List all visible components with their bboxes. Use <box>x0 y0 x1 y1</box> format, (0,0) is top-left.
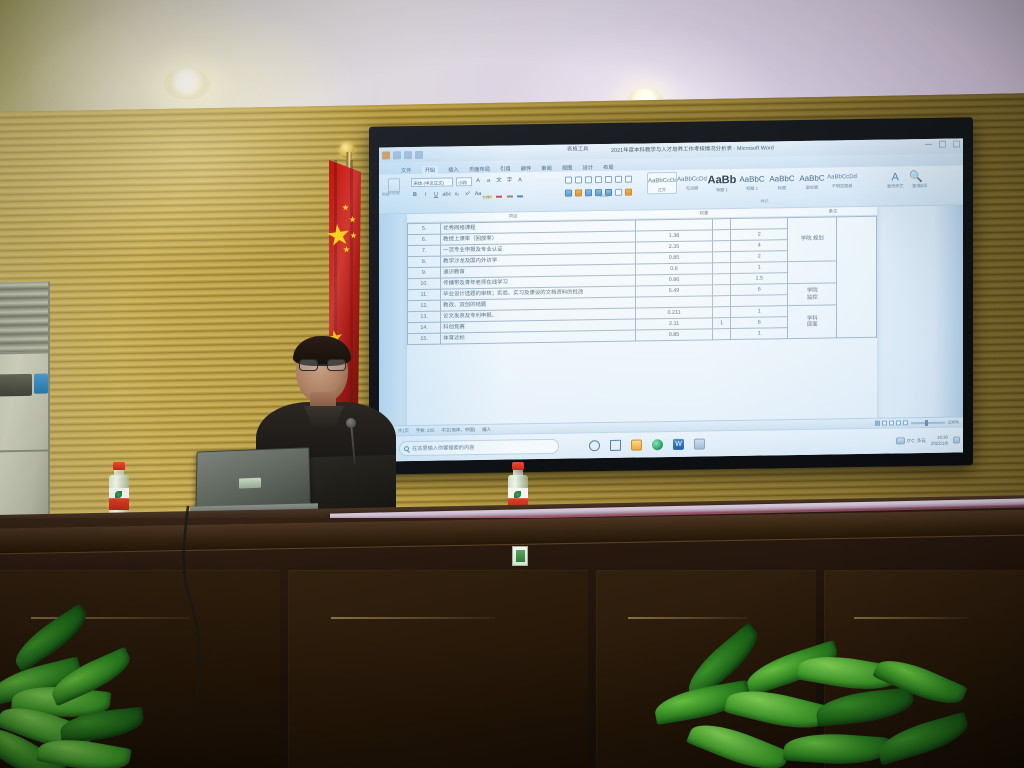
show-marks-icon[interactable] <box>625 176 632 183</box>
ribbon-group-clipboard[interactable]: 粘贴 剪贴板 <box>381 176 407 197</box>
style-preview: AaBbC <box>737 173 767 184</box>
row-extra <box>713 274 731 285</box>
document-page[interactable]: 项目 权重 备注 5. 优秀网络课程 学院 规划 <box>407 207 877 436</box>
style-no-spacing[interactable]: AaBbCcDd 无间隔 <box>677 171 707 191</box>
row-count <box>730 218 788 230</box>
row-count: 6 <box>730 284 788 296</box>
shrink-font-icon[interactable]: a <box>485 177 493 186</box>
office-button-icon[interactable] <box>382 151 390 159</box>
row-note: 学院 监控 <box>788 283 837 306</box>
row-item: 体育达标 <box>441 330 636 344</box>
view-mode-icons[interactable] <box>875 420 908 426</box>
contextual-tab-label: 表格工具 <box>567 145 589 152</box>
row-extra <box>713 252 731 263</box>
row-number: 11. <box>408 289 441 301</box>
taskbar-app-icons[interactable]: W <box>589 438 705 451</box>
zoom-level: 100% <box>948 419 959 424</box>
laptop-logo-icon <box>239 478 261 489</box>
style-preview: AaBb <box>707 174 737 186</box>
row-count: 1 <box>730 306 788 318</box>
glasses-icon <box>299 359 346 371</box>
row-count <box>730 295 788 307</box>
weather-temp: 0°C <box>907 438 915 443</box>
row-extra <box>713 241 731 252</box>
style-subtitle[interactable]: AaBbC 副标题 <box>797 170 827 191</box>
quick-access-toolbar[interactable] <box>379 150 423 159</box>
weather-widget[interactable]: 0°C 多云 <box>896 437 926 444</box>
decrease-indent-icon[interactable] <box>595 176 602 183</box>
style-name: 正文 <box>648 187 676 193</box>
style-name: 副标题 <box>797 185 827 191</box>
assessment-table[interactable]: 5. 优秀网络课程 学院 规划 6. 教授上课率（回放率） 1.38 <box>407 216 877 345</box>
style-preview: AaBbCcDd <box>827 172 857 182</box>
tab-home[interactable]: 开始 <box>422 166 439 174</box>
character-border-icon[interactable]: 字 <box>506 176 514 185</box>
status-words: 字数: 235 <box>416 427 435 433</box>
podium-panel <box>288 570 588 768</box>
bottle-leaf-icon <box>514 491 521 498</box>
row-number: 13. <box>408 311 441 323</box>
taskbar-search-input[interactable]: 在这里输入你要搜索的内容 <box>399 439 559 457</box>
draft-view-icon[interactable] <box>903 420 908 425</box>
style-heading-1[interactable]: AaBb 标题 1 <box>707 171 737 193</box>
task-view-icon[interactable] <box>610 440 621 451</box>
wall-mounted-display[interactable]: 表格工具 2021年度本科教学与人才培养工作考核情况分析表 - Microsof… <box>379 138 963 461</box>
tab-review[interactable]: 审阅 <box>541 164 552 172</box>
redo-icon[interactable] <box>415 150 423 158</box>
row-number: 12. <box>408 300 441 312</box>
action-center-icon[interactable] <box>953 436 960 443</box>
increase-indent-icon[interactable] <box>605 176 612 183</box>
plant-left <box>0 615 220 768</box>
font-name-input[interactable]: 宋体 (中文正文) <box>411 177 453 187</box>
web-layout-view-icon[interactable] <box>889 421 894 426</box>
row-extra: 1 <box>713 318 731 329</box>
style-name: 不明显强调 <box>827 183 857 189</box>
row-number: 14. <box>408 322 441 334</box>
font-size-input[interactable]: 小四 <box>456 177 472 186</box>
search-placeholder: 在这里输入你要搜索的内容 <box>412 444 474 452</box>
save-icon[interactable] <box>393 151 401 159</box>
plant-right <box>648 648 978 768</box>
status-insert-mode: 插入 <box>482 426 491 432</box>
style-name: 标题 1 <box>707 187 737 193</box>
style-name: 标题 <box>767 185 797 191</box>
panel-notch <box>628 617 748 619</box>
style-heading-2[interactable]: AaBbC 标题 2 <box>737 170 767 191</box>
zoom-slider[interactable] <box>911 421 945 424</box>
downlight-left <box>164 68 210 100</box>
style-preview: AaBbCcDd <box>677 174 707 184</box>
row-extra <box>713 230 731 241</box>
group-label-editing: 编辑 <box>887 182 959 189</box>
water-bottle-left <box>108 462 130 518</box>
weather-text: 多云 <box>917 437 926 443</box>
cortana-icon[interactable] <box>589 440 600 451</box>
clock-date: 2022/1/6 <box>931 440 948 446</box>
row-note: 学院 规划 <box>788 217 837 262</box>
tab-design[interactable]: 设计 <box>582 163 593 171</box>
zoom-slider-knob[interactable] <box>925 419 928 425</box>
glasses-right-lens <box>327 359 346 371</box>
word-icon[interactable]: W <box>673 439 684 450</box>
tab-insert[interactable]: 插入 <box>448 165 459 173</box>
style-subtle-emphasis[interactable]: AaBbCcDd 不明显强调 <box>827 169 857 189</box>
document-canvas[interactable]: 项目 权重 备注 5. 优秀网络课程 学院 规划 <box>379 205 963 440</box>
row-number: 7. <box>408 245 441 257</box>
grow-font-icon[interactable]: A <box>474 177 482 186</box>
undo-icon[interactable] <box>404 151 412 159</box>
sticker-graphic-icon <box>516 550 525 562</box>
row-count: 1.5 <box>730 273 788 285</box>
style-name: 无间隔 <box>677 185 707 191</box>
multilevel-list-icon[interactable] <box>585 176 592 183</box>
conference-room-photo: 表格工具 2021年度本科教学与人才培养工作考核情况分析表 - Microsof… <box>0 0 1024 768</box>
clear-formatting-icon[interactable]: A <box>516 176 524 185</box>
bottle-cap <box>113 462 125 470</box>
row-number: 10. <box>408 278 441 290</box>
row-extra <box>713 296 731 307</box>
sort-icon[interactable] <box>615 176 622 183</box>
row-count: 1 <box>730 262 788 274</box>
ribbon-group-styles[interactable]: AaBbCcDd 正文 AaBbCcDd 无间隔 AaBb 标题 1 AaB <box>647 169 882 207</box>
style-preview: AaBbC <box>767 173 797 184</box>
panel-notch <box>331 617 495 619</box>
panel-notch <box>854 617 969 619</box>
row-note: 学科 层面 <box>788 305 837 339</box>
ac-louvers <box>0 282 48 355</box>
tab-layout[interactable]: 布局 <box>603 163 614 171</box>
ac-display-panel <box>0 374 32 397</box>
row-value: 0.85 <box>635 329 712 341</box>
find-icon: 🔍 <box>909 171 923 183</box>
column-header-weight: 权重 <box>619 209 789 218</box>
search-icon <box>404 446 409 451</box>
glasses-left-lens <box>299 359 318 371</box>
group-label-clipboard: 剪贴板 <box>381 190 407 196</box>
ac-sticker <box>34 374 48 394</box>
bottle-neck <box>114 469 124 476</box>
restore-icon[interactable] <box>939 141 946 148</box>
style-title[interactable]: AaBbC 标题 <box>767 170 797 191</box>
word-window[interactable]: 表格工具 2021年度本科教学与人才培养工作考核情况分析表 - Microsof… <box>379 138 963 461</box>
air-conditioner <box>0 281 50 520</box>
status-language: 中文(简体，中国) <box>441 427 475 434</box>
row-extra <box>713 329 731 340</box>
close-icon[interactable] <box>953 140 960 147</box>
ribbon-group-font[interactable]: 宋体 (中文正文) 小四 A a 文 字 A B I U abc x₂ <box>411 174 561 202</box>
row-extra <box>713 285 731 296</box>
bottle-cap <box>512 462 524 470</box>
group-label-paragraph: 段落 <box>565 192 643 199</box>
row-count: 1 <box>730 328 788 340</box>
ac-seam <box>0 450 48 453</box>
file-explorer-icon[interactable] <box>631 439 642 450</box>
plant-leaf <box>783 730 889 767</box>
phonetic-guide-icon[interactable]: 文 <box>495 177 503 186</box>
status-zoom-controls[interactable]: 100% <box>875 419 959 425</box>
row-extra <box>713 307 731 318</box>
group-label-font: 字体 <box>411 194 561 202</box>
style-normal[interactable]: AaBbCcDd 正文 <box>647 172 677 194</box>
outline-view-icon[interactable] <box>896 420 901 425</box>
bullets-icon[interactable] <box>565 177 572 184</box>
document-title: 2021年度本科教学与人才培养工作考核情况分析表 - Microsoft Wor… <box>611 143 774 154</box>
ribbon-group-paragraph[interactable]: 段落 <box>565 172 643 199</box>
system-tray[interactable]: 0°C 多云 16:30 2022/1/6 <box>896 435 960 447</box>
column-header-note: 备注 <box>789 208 877 215</box>
row-extra <box>713 263 731 274</box>
row-count: 4 <box>730 240 788 252</box>
ribbon-group-editing[interactable]: A 更改样式 🔍 查找 编辑 <box>887 167 959 189</box>
numbering-icon[interactable] <box>575 176 582 183</box>
glasses-bridge <box>318 364 327 366</box>
minimize-icon[interactable] <box>925 141 932 145</box>
style-name: 标题 2 <box>737 185 767 191</box>
weather-icon <box>896 437 905 444</box>
print-layout-view-icon[interactable] <box>875 421 880 426</box>
window-controls[interactable] <box>925 140 960 148</box>
edge-icon[interactable] <box>652 439 663 450</box>
plant-leaf <box>815 687 916 727</box>
style-preview: AaBbCcDd <box>648 176 676 186</box>
row-note-blank <box>788 261 837 284</box>
desk-microphone <box>346 418 356 428</box>
row-number: 9. <box>408 267 441 279</box>
row-last-column <box>837 216 877 338</box>
bottle-leaf-icon <box>115 491 122 498</box>
style-preview: AaBbC <box>797 173 827 184</box>
row-number: 15. <box>408 333 441 345</box>
plant-leaf <box>874 712 972 766</box>
row-extra <box>713 219 731 230</box>
change-styles-icon: A <box>887 171 903 183</box>
bottle-neck <box>513 469 523 476</box>
tab-view[interactable]: 视图 <box>562 164 573 172</box>
row-number: 5. <box>408 223 441 235</box>
tab-file[interactable]: 文件 <box>401 166 412 174</box>
app-icon[interactable] <box>694 438 705 449</box>
podium-sticker <box>512 546 528 566</box>
row-number: 6. <box>408 234 441 246</box>
row-number: 8. <box>408 256 441 268</box>
row-count: 6 <box>730 317 788 329</box>
row-count: 2 <box>730 251 788 263</box>
full-screen-view-icon[interactable] <box>882 421 887 426</box>
tab-mailings[interactable]: 邮件 <box>521 164 532 172</box>
taskbar-clock[interactable]: 16:30 2022/1/6 <box>931 435 948 446</box>
row-count: 2 <box>730 229 788 241</box>
tab-references[interactable]: 引用 <box>500 165 511 173</box>
